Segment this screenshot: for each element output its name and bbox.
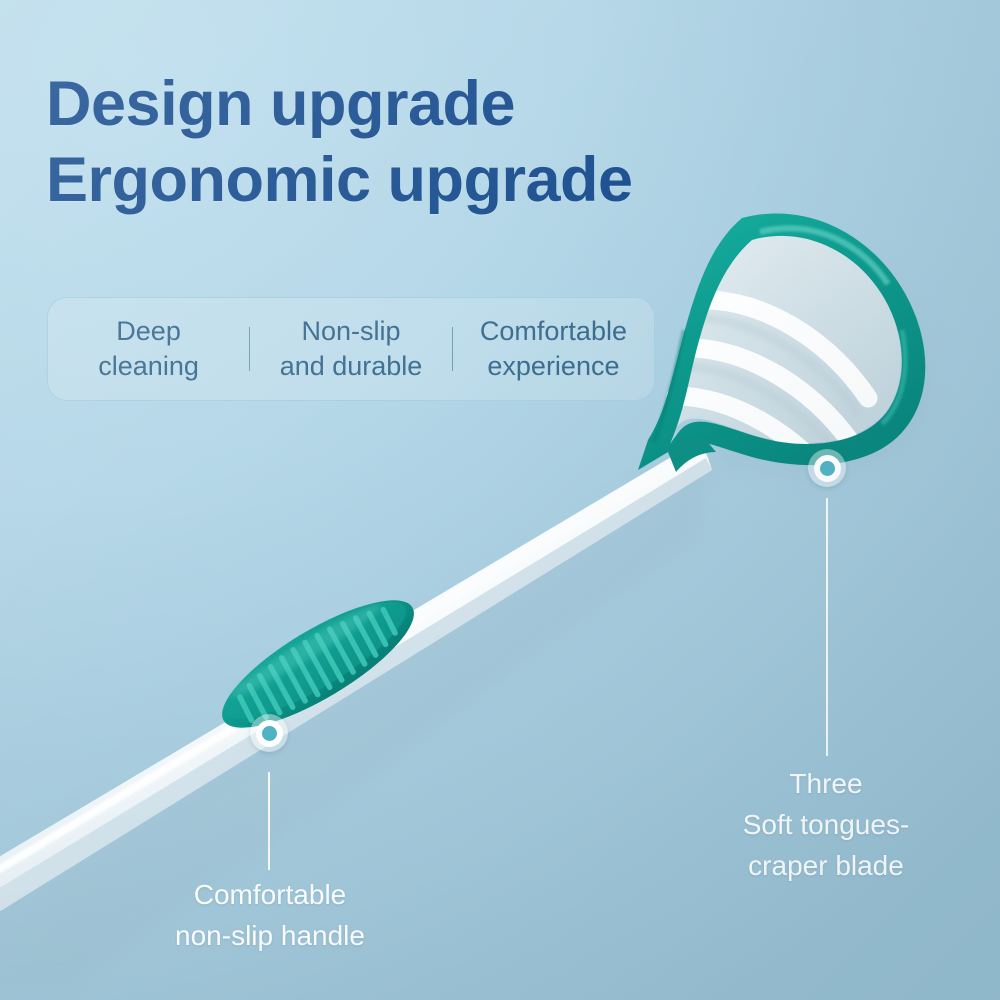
marker-dot <box>820 461 835 476</box>
marker-ring <box>814 455 841 482</box>
callout-leader-handle <box>268 772 270 870</box>
callout-line-1: Three <box>620 763 1000 804</box>
callout-line-1: Comfortable <box>65 874 475 915</box>
callout-line-2: non-slip handle <box>65 915 475 956</box>
callout-marker-blade <box>808 449 846 487</box>
callout-marker-handle <box>250 714 288 752</box>
marker-ring <box>256 720 283 747</box>
callout-line-2: Soft tongues- <box>620 804 1000 845</box>
marker-dot <box>262 726 277 741</box>
feature-badge-line-2: experience <box>487 349 619 384</box>
product-scraper-head <box>638 213 925 490</box>
headline: Design upgrade Ergonomic upgrade <box>46 66 876 218</box>
badge-divider-1 <box>249 327 250 371</box>
callout-leader-blade <box>826 498 828 756</box>
product-marketing-image: Design upgrade Ergonomic upgrade Deep cl… <box>0 0 1000 1000</box>
feature-badge-line-1: Deep <box>116 314 181 349</box>
callout-line-3: craper blade <box>620 845 1000 886</box>
feature-badge-line-2: and durable <box>280 349 423 384</box>
feature-badge-line-1: Comfortable <box>480 314 627 349</box>
feature-badge-deep-cleaning: Deep cleaning <box>48 314 249 384</box>
callout-label-blade: Three Soft tongues- craper blade <box>620 763 1000 886</box>
feature-badge-comfortable: Comfortable experience <box>453 314 654 384</box>
badge-divider-2 <box>452 327 453 371</box>
feature-badge-line-1: Non-slip <box>301 314 400 349</box>
headline-line-1: Design upgrade <box>46 66 876 142</box>
feature-badge-box: Deep cleaning Non-slip and durable Comfo… <box>47 297 655 401</box>
feature-badge-non-slip: Non-slip and durable <box>250 314 451 384</box>
feature-badge-line-2: cleaning <box>98 349 199 384</box>
headline-line-2: Ergonomic upgrade <box>46 142 876 218</box>
callout-label-handle: Comfortable non-slip handle <box>65 874 475 956</box>
